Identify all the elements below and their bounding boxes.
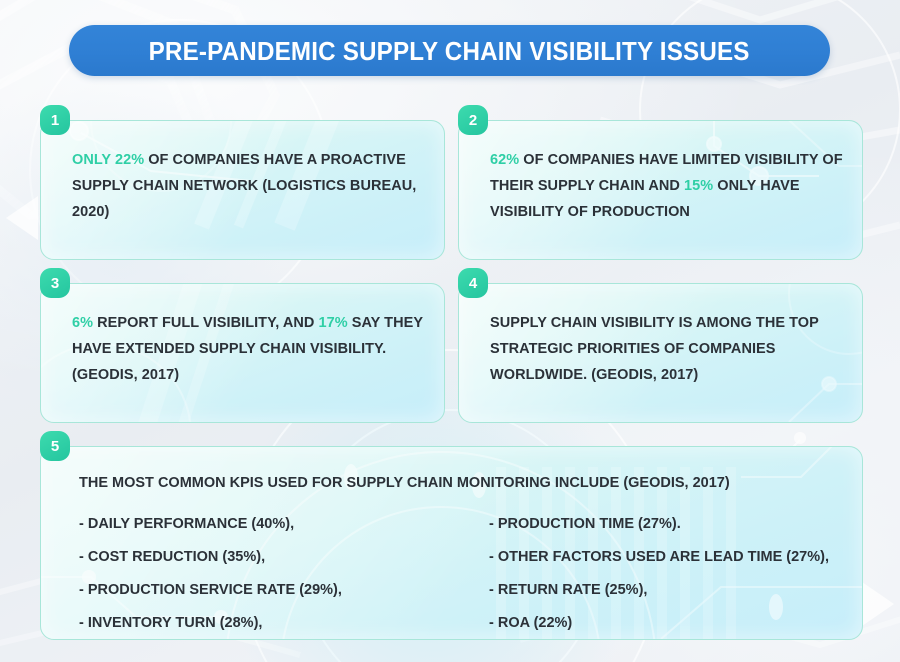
stat-card-4: 4 SUPPLY CHAIN VISIBILITY IS AMONG THE T… xyxy=(458,283,863,423)
page-title: PRE-PANDEMIC SUPPLY CHAIN VISIBILITY ISS… xyxy=(149,38,750,64)
infographic-canvas: PRE-PANDEMIC SUPPLY CHAIN VISIBILITY ISS… xyxy=(0,0,900,662)
kpi-left-column: - DAILY PERFORMANCE (40%), - COST REDUCT… xyxy=(41,508,464,640)
stat-highlight-1: 62% xyxy=(490,152,519,168)
card-4-text: SUPPLY CHAIN VISIBILITY IS AMONG THE TOP… xyxy=(459,284,862,388)
stat-rest-1: REPORT FULL VISIBILITY, AND xyxy=(93,315,318,331)
card-number-badge: 1 xyxy=(40,105,70,135)
kpi-card-5: 5 THE MOST COMMON KPIS USED FOR SUPPLY C… xyxy=(40,446,863,640)
card-number-badge: 5 xyxy=(40,431,70,461)
kpi-list-item: - PRODUCTION TIME (27%). xyxy=(489,508,889,541)
triangle-left-icon xyxy=(6,196,38,240)
stat-card-3: 3 6% REPORT FULL VISIBILITY, AND 17% SAY… xyxy=(40,283,445,423)
kpi-list-item: - DAILY PERFORMANCE (40%), xyxy=(79,508,464,541)
stat-highlight: ONLY 22% xyxy=(72,152,144,168)
kpi-list-item: - RETURN RATE (25%), xyxy=(489,574,889,607)
page-title-banner: PRE-PANDEMIC SUPPLY CHAIN VISIBILITY ISS… xyxy=(69,25,830,76)
kpi-right-column: - PRODUCTION TIME (27%). - OTHER FACTORS… xyxy=(464,508,889,640)
kpi-heading: THE MOST COMMON KPIS USED FOR SUPPLY CHA… xyxy=(41,447,862,493)
card-number-badge: 2 xyxy=(458,105,488,135)
stat-card-2: 2 62% OF COMPANIES HAVE LIMITED VISIBILI… xyxy=(458,120,863,260)
card-2-text: 62% OF COMPANIES HAVE LIMITED VISIBILITY… xyxy=(459,121,862,225)
kpi-columns: - DAILY PERFORMANCE (40%), - COST REDUCT… xyxy=(41,493,862,640)
stat-rest: SUPPLY CHAIN VISIBILITY IS AMONG THE TOP… xyxy=(490,315,819,383)
kpi-list-item: - ROA (22%) xyxy=(489,607,889,640)
card-1-text: ONLY 22% OF COMPANIES HAVE A PROACTIVE S… xyxy=(41,121,444,225)
kpi-list-item: - COST REDUCTION (35%), xyxy=(79,541,464,574)
stat-highlight-2: 15% xyxy=(684,178,713,194)
stat-highlight-2: 17% xyxy=(318,315,347,331)
card-number-badge: 4 xyxy=(458,268,488,298)
kpi-list-item: - INVENTORY TURN (28%), xyxy=(79,607,464,640)
stat-highlight-1: 6% xyxy=(72,315,93,331)
kpi-list-item: - OTHER FACTORS USED ARE LEAD TIME (27%)… xyxy=(489,541,889,574)
card-3-text: 6% REPORT FULL VISIBILITY, AND 17% SAY T… xyxy=(41,284,444,388)
stat-card-1: 1 ONLY 22% OF COMPANIES HAVE A PROACTIVE… xyxy=(40,120,445,260)
kpi-list-item: - PRODUCTION SERVICE RATE (29%), xyxy=(79,574,464,607)
card-number-badge: 3 xyxy=(40,268,70,298)
